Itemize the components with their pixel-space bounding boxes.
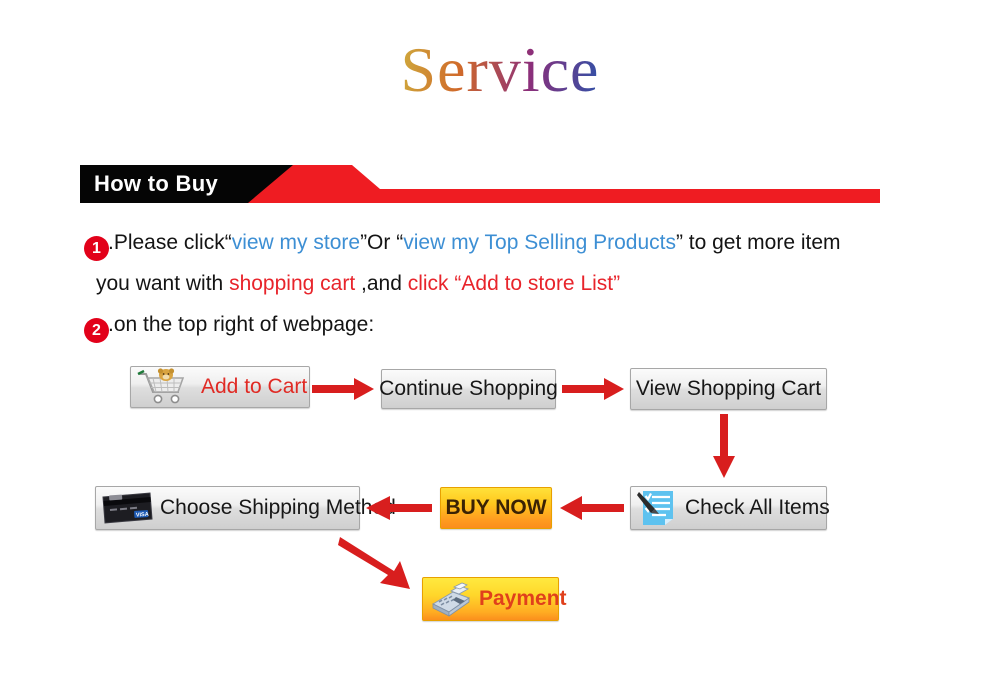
shopping-cart-icon	[135, 368, 193, 406]
checklist-icon	[635, 488, 679, 528]
continue-shopping-label: Continue Shopping	[379, 377, 558, 401]
payment-button[interactable]: Payment	[422, 577, 559, 621]
credit-card-icon: VISA	[98, 488, 156, 528]
continue-shopping-button[interactable]: Continue Shopping	[381, 369, 556, 409]
arrow-right-icon-continue-to-view	[562, 374, 626, 404]
check-all-items-label: Check All Items	[685, 496, 830, 520]
arrow-left-icon-check-to-buy	[558, 492, 624, 524]
view-shopping-cart-label: View Shopping Cart	[636, 377, 821, 401]
how-to-buy-flow-diagram: Add to Cart Continue Shopping View Shopp…	[0, 0, 1000, 700]
choose-shipping-method-button[interactable]: VISA Choose Shipping Method	[95, 486, 360, 530]
view-shopping-cart-button[interactable]: View Shopping Cart	[630, 368, 827, 410]
arrow-diagonal-icon-shipping-to-payment	[338, 535, 430, 593]
buy-now-button[interactable]: BUY NOW	[440, 487, 552, 529]
choose-shipping-method-label: Choose Shipping Method	[160, 496, 396, 520]
cash-register-icon	[427, 580, 473, 618]
buy-now-label: BUY NOW	[445, 496, 546, 520]
add-to-cart-label: Add to Cart	[201, 375, 307, 399]
arrow-left-icon-buy-to-shipping	[364, 492, 432, 524]
payment-label: Payment	[479, 587, 567, 611]
arrow-down-icon-view-to-check	[707, 414, 741, 480]
check-all-items-button[interactable]: Check All Items	[630, 486, 827, 530]
add-to-cart-button[interactable]: Add to Cart	[130, 366, 310, 408]
arrow-right-icon-add-to-continue	[312, 374, 376, 404]
svg-text:VISA: VISA	[136, 512, 149, 519]
